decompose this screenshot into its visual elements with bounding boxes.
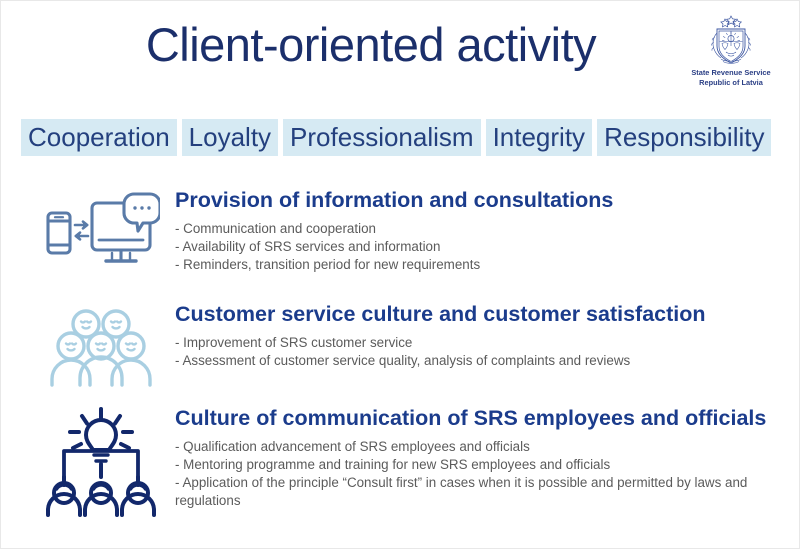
section-bullet-list: - Qualification advancement of SRS emplo… [175, 438, 791, 510]
content-section-customer-service: Customer service culture and customer sa… [31, 301, 791, 387]
bullet-item: - Reminders, transition period for new r… [175, 256, 791, 274]
srs-logo: State Revenue ServiceRepublic of Latvia [675, 13, 787, 87]
lightbulb-team-idea-icon [42, 407, 160, 517]
monitor-phone-chat-icon [42, 191, 160, 273]
section-body: Provision of information and consultatio… [171, 187, 791, 274]
section-icon-slot [31, 405, 171, 517]
group-of-people-icon [46, 307, 156, 387]
content-section-communication-culture: Culture of communication of SRS employee… [31, 405, 791, 517]
value-chip-cooperation[interactable]: Cooperation [21, 119, 177, 156]
logo-caption: State Revenue ServiceRepublic of Latvia [675, 68, 787, 87]
section-icon-slot [31, 301, 171, 387]
bullet-item: - Application of the principle “Consult … [175, 474, 775, 510]
core-values-row: Cooperation Loyalty Professionalism Inte… [21, 119, 781, 156]
logo-caption-line1: State Revenue Service [691, 68, 770, 77]
bullet-item: - Qualification advancement of SRS emplo… [175, 438, 791, 456]
section-heading: Customer service culture and customer sa… [175, 301, 791, 327]
value-chip-professionalism[interactable]: Professionalism [283, 119, 481, 156]
value-chip-integrity[interactable]: Integrity [486, 119, 593, 156]
logo-caption-line2: Republic of Latvia [699, 78, 763, 87]
slide-header: Client-oriented activity [1, 1, 800, 111]
section-bullet-list: - Improvement of SRS customer service - … [175, 334, 791, 370]
section-heading: Provision of information and consultatio… [175, 187, 791, 213]
section-heading: Culture of communication of SRS employee… [175, 405, 791, 431]
value-chip-loyalty[interactable]: Loyalty [182, 119, 278, 156]
bullet-item: - Improvement of SRS customer service [175, 334, 791, 352]
bullet-item: - Communication and cooperation [175, 220, 791, 238]
slide-canvas: Client-oriented activity [0, 0, 800, 549]
latvia-coat-of-arms-icon [706, 13, 756, 67]
page-title: Client-oriented activity [61, 17, 681, 72]
value-chip-responsibility[interactable]: Responsibility [597, 119, 771, 156]
section-icon-slot [31, 187, 171, 273]
bullet-item: - Availability of SRS services and infor… [175, 238, 791, 256]
section-body: Culture of communication of SRS employee… [171, 405, 791, 510]
bullet-item: - Assessment of customer service quality… [175, 352, 791, 370]
bullet-item: - Mentoring programme and training for n… [175, 456, 791, 474]
content-section-information: Provision of information and consultatio… [31, 187, 791, 274]
section-bullet-list: - Communication and cooperation - Availa… [175, 220, 791, 274]
section-body: Customer service culture and customer sa… [171, 301, 791, 370]
